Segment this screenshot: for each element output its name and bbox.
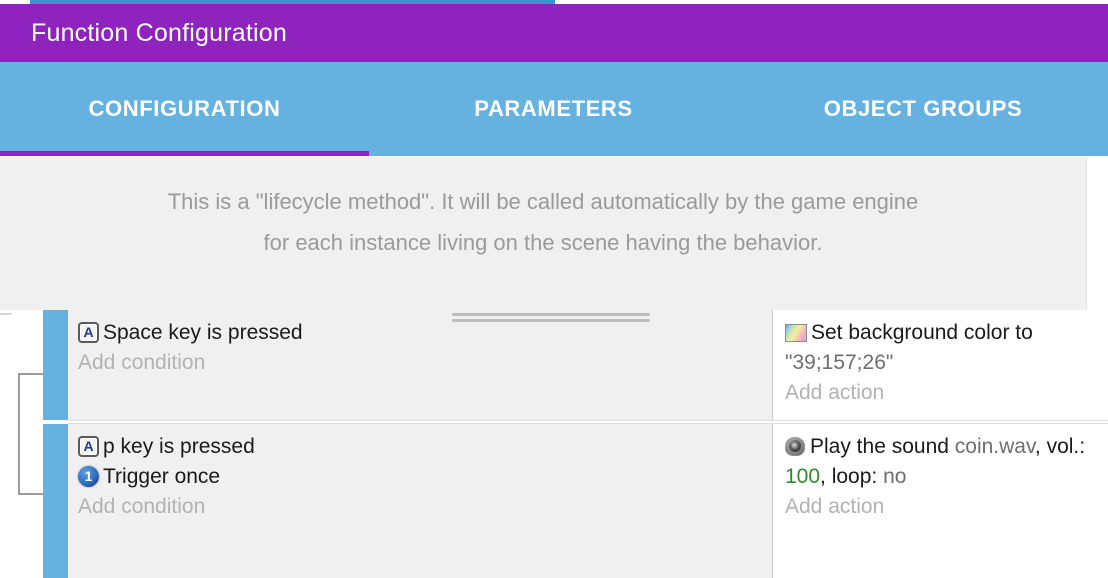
condition-text-key: p: [103, 435, 115, 458]
event-row[interactable]: p key is pressed Trigger once Add condit…: [43, 424, 1108, 578]
condition-item[interactable]: Trigger once: [78, 462, 772, 492]
window-titlebar: Function Configuration: [0, 4, 1108, 62]
tab-parameters-label: PARAMETERS: [474, 96, 632, 122]
condition-text-key: Space: [103, 321, 163, 344]
condition-text-suffix: key is pressed: [163, 321, 303, 344]
tab-configuration-label: CONFIGURATION: [89, 96, 281, 122]
event-conditions-column[interactable]: Space key is pressed Add condition: [68, 310, 773, 420]
tab-parameters[interactable]: PARAMETERS: [369, 62, 738, 156]
event-conditions-column[interactable]: p key is pressed Trigger once Add condit…: [68, 424, 773, 578]
tab-configuration[interactable]: CONFIGURATION: [0, 62, 369, 156]
page-title: Function Configuration: [0, 19, 287, 48]
action-item[interactable]: Set background color to "39;157;26": [785, 318, 1108, 378]
column-resize-handle[interactable]: [452, 313, 650, 323]
tab-bar: CONFIGURATION PARAMETERS OBJECT GROUPS: [0, 62, 1108, 156]
add-action-link[interactable]: Add action: [785, 492, 1108, 522]
action-text-vol-label: , vol.:: [1035, 435, 1085, 458]
events-tree-gutter: [0, 310, 43, 578]
sound-icon: [785, 436, 806, 457]
event-row[interactable]: Space key is pressed Add condition Set b…: [43, 310, 1108, 420]
vertical-scrollbar[interactable]: [1086, 157, 1108, 310]
add-action-link[interactable]: Add action: [785, 378, 1108, 408]
drag-handle-line: [452, 319, 650, 322]
action-item[interactable]: Play the sound coin.wav, vol.: 100, loop…: [785, 432, 1108, 492]
event-selection-marker[interactable]: [43, 424, 68, 578]
add-condition-link[interactable]: Add condition: [78, 492, 772, 522]
description-line-1: This is a "lifecycle method". It will be…: [168, 181, 919, 222]
function-configuration-window: Function Configuration CONFIGURATION PAR…: [0, 0, 1108, 578]
tab-object-groups[interactable]: OBJECT GROUPS: [738, 62, 1108, 156]
lifecycle-description-panel: This is a "lifecycle method". It will be…: [0, 157, 1086, 310]
event-selection-marker[interactable]: [43, 310, 68, 420]
action-text-prefix: Play the sound: [810, 435, 955, 458]
condition-text-suffix: key is pressed: [115, 435, 255, 458]
action-param-sound-file[interactable]: coin.wav: [955, 435, 1035, 458]
color-palette-icon: [785, 324, 807, 342]
condition-item[interactable]: p key is pressed: [78, 432, 772, 462]
action-param-color[interactable]: "39;157;26": [785, 351, 893, 374]
description-line-2: for each instance living on the scene ha…: [264, 222, 823, 263]
action-param-volume[interactable]: 100: [785, 465, 820, 488]
condition-item[interactable]: Space key is pressed: [78, 318, 772, 348]
trigger-once-icon: [78, 466, 99, 487]
event-actions-column[interactable]: Set background color to "39;157;26" Add …: [773, 310, 1108, 420]
events-sheet: Space key is pressed Add condition Set b…: [0, 310, 1108, 578]
tab-object-groups-label: OBJECT GROUPS: [824, 96, 1023, 122]
action-text-loop-label: , loop:: [820, 465, 883, 488]
action-text-prefix: Set background color to: [811, 321, 1033, 344]
tree-bracket: [18, 373, 43, 495]
drag-handle-line: [452, 313, 650, 316]
speaker-dome: [792, 443, 798, 449]
add-condition-link[interactable]: Add condition: [78, 348, 772, 378]
tree-stub: [0, 313, 12, 315]
keyboard-key-icon: [78, 322, 99, 343]
action-param-loop[interactable]: no: [883, 465, 906, 488]
keyboard-key-icon: [78, 436, 99, 457]
condition-text-trigger-once: Trigger once: [103, 465, 220, 488]
event-actions-column[interactable]: Play the sound coin.wav, vol.: 100, loop…: [773, 424, 1108, 578]
